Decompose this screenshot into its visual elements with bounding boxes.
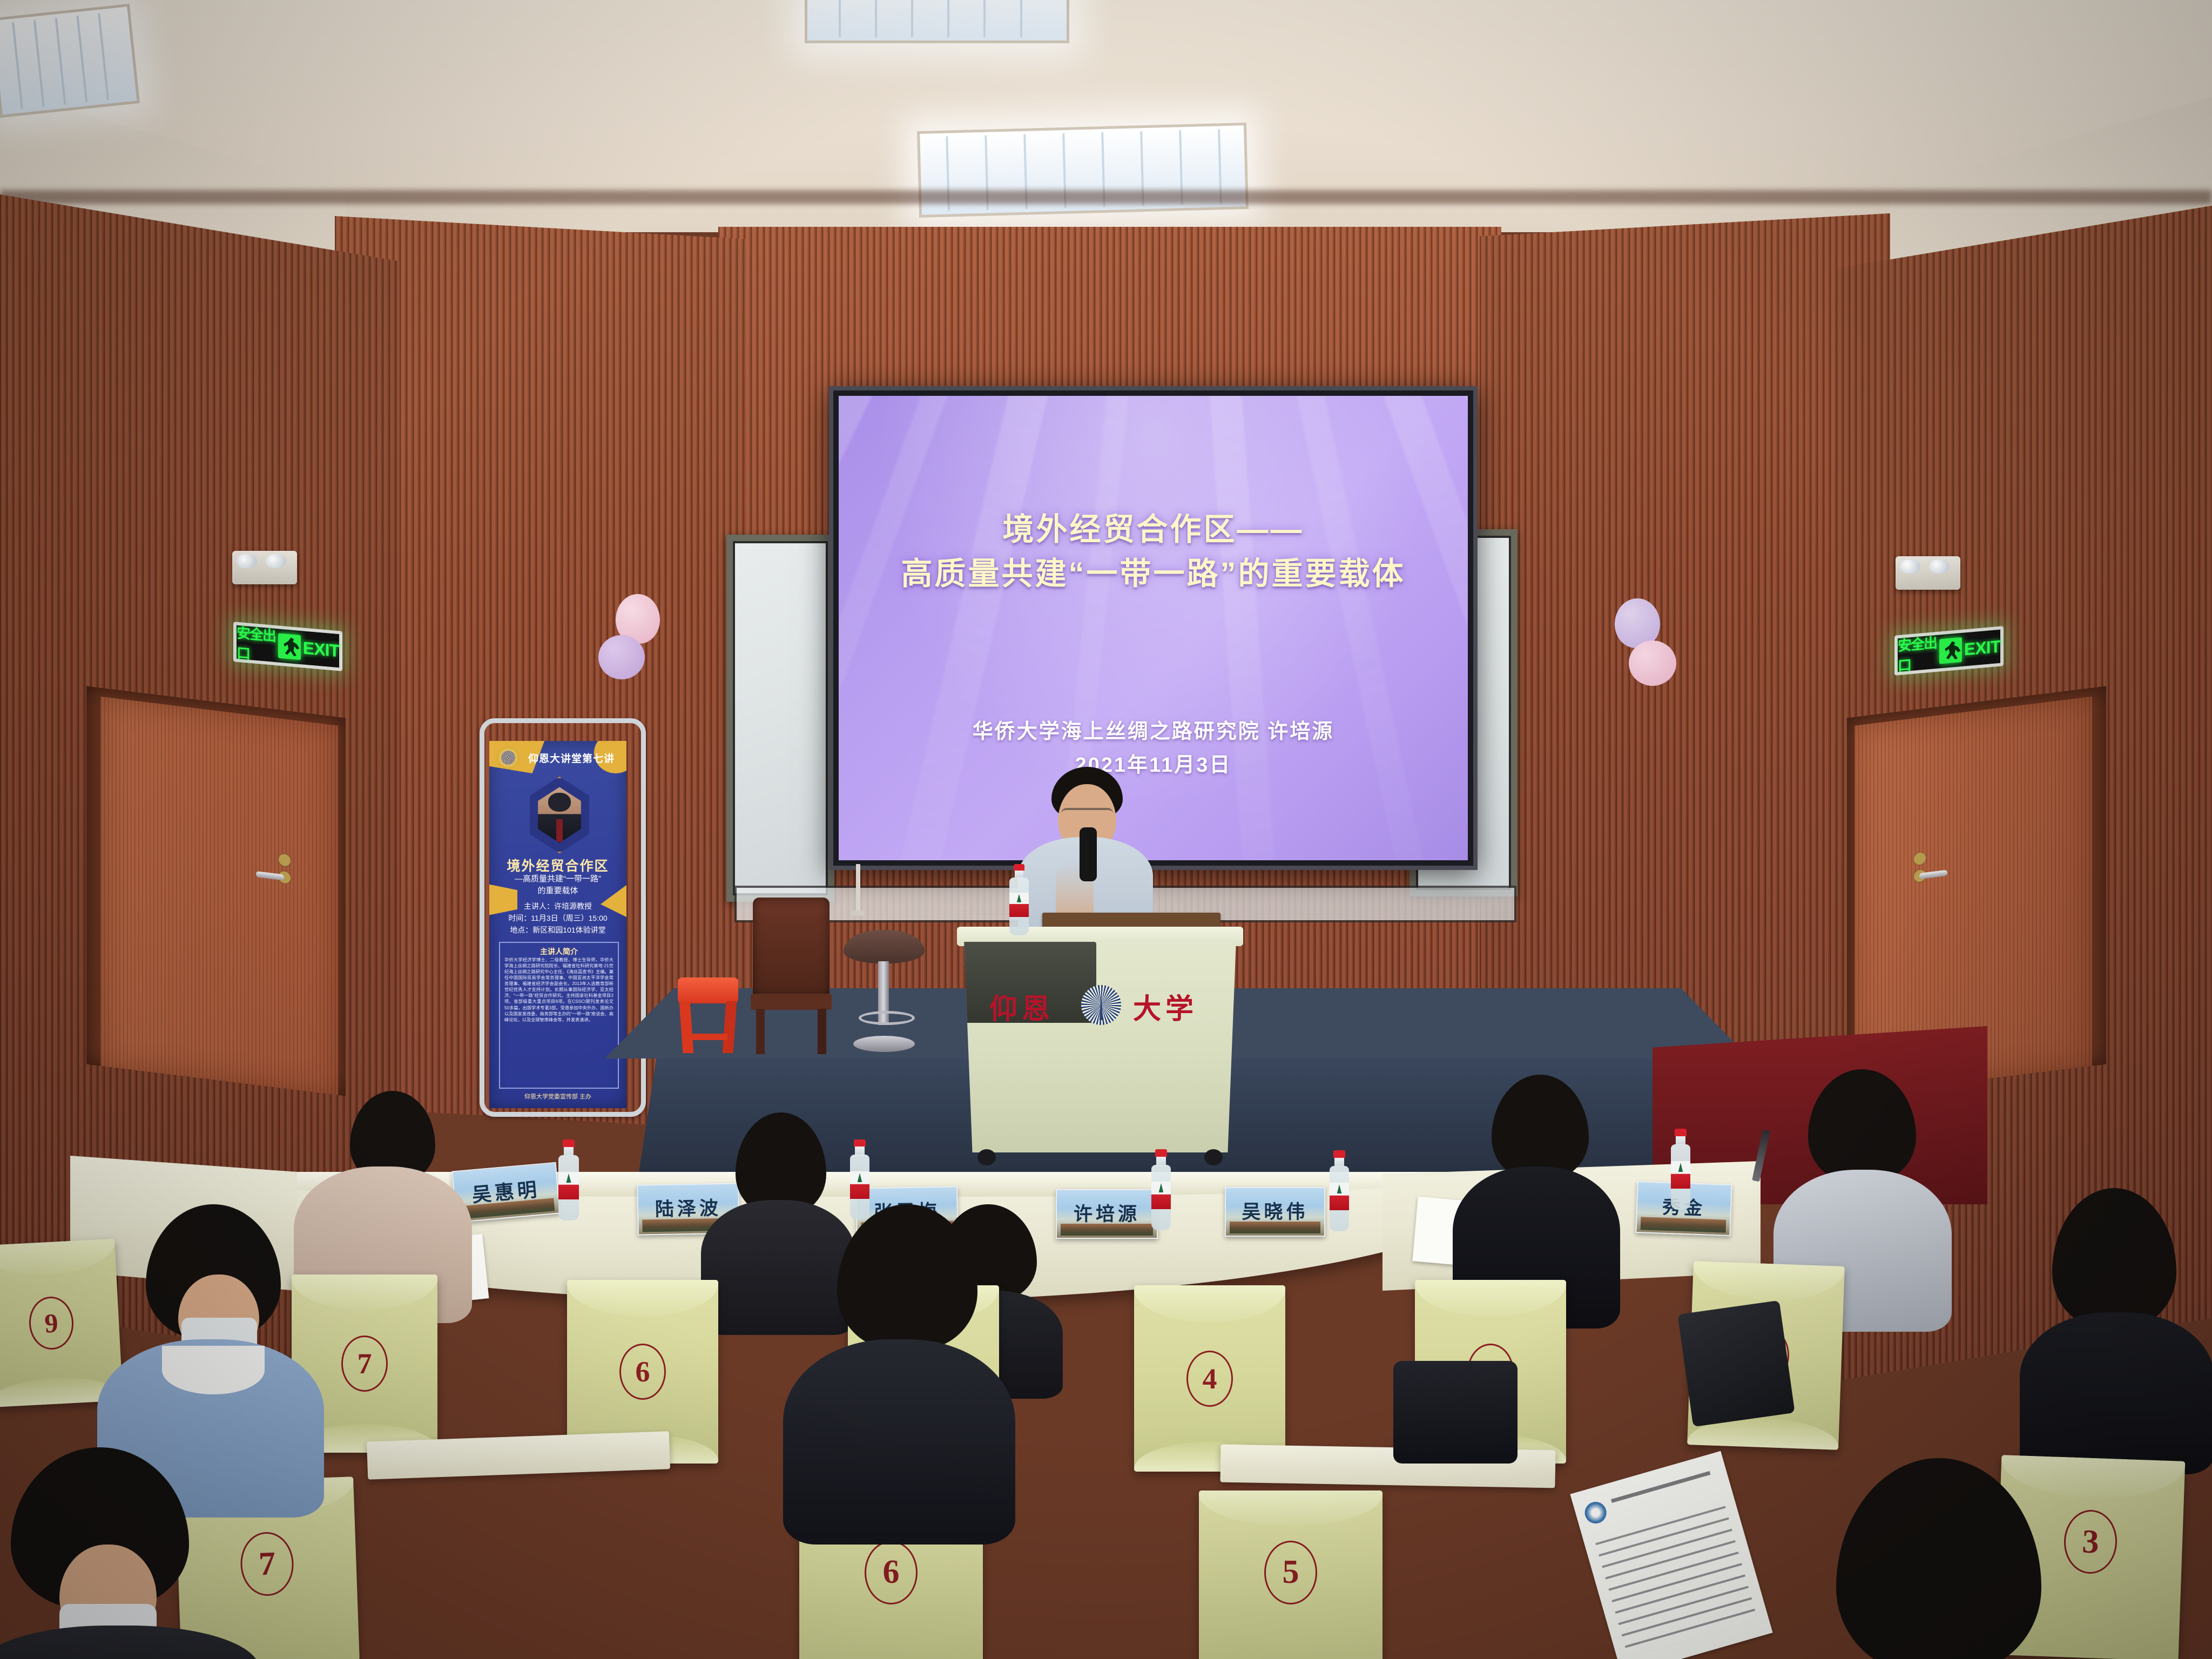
- banner-header: 仰恩大讲堂第七讲: [520, 751, 623, 765]
- door-lock-escutcheon: [279, 853, 291, 867]
- exit-sign-label-cn: 安全出口: [237, 622, 276, 665]
- seat-4-middle[interactable]: 4: [1134, 1285, 1285, 1472]
- attendee-torso: [0, 1626, 259, 1659]
- seat-5-front[interactable]: 5: [1199, 1491, 1382, 1659]
- attendee-hair: [1808, 1069, 1916, 1183]
- exit-sign-label-cn: 安全出口: [1898, 632, 1937, 675]
- attendee-foreground-center: [772, 1204, 1021, 1539]
- emergency-lamp-left: [232, 551, 297, 584]
- door-left[interactable]: [100, 697, 338, 1095]
- presenter-glasses: [1061, 808, 1113, 821]
- attendee-table-6: [2020, 1188, 2212, 1469]
- slide-title-line1: 境外经贸合作区——: [839, 504, 1468, 549]
- podium-caster-right: [1204, 1149, 1223, 1165]
- yangen-university-emblem-icon: [1081, 985, 1121, 1025]
- seat-number: 5: [1264, 1541, 1317, 1604]
- ceiling-light-panel-left: [0, 4, 140, 118]
- banner-title-line2: —高质量共建“一带一路”: [489, 873, 626, 884]
- slide-affiliation: 华侨大学海上丝绸之路研究院 许培源: [839, 714, 1468, 744]
- handbag[interactable]: [1393, 1361, 1518, 1464]
- banner-portrait-frame: [525, 777, 594, 853]
- attendee-foreground-bottom-left: [0, 1447, 259, 1659]
- door-lock-escutcheon: [1914, 852, 1926, 866]
- handout-title-line: [1611, 1471, 1711, 1503]
- podium-caster-left: [977, 1149, 996, 1165]
- microphone-icon[interactable]: [1080, 827, 1097, 881]
- door-recess-left: [86, 686, 346, 1096]
- screen-pull-knob[interactable]: [851, 911, 865, 916]
- tablet-device[interactable]: [1677, 1300, 1795, 1427]
- banner-portrait-photo: [535, 787, 585, 842]
- handout-body-lines: [1595, 1506, 1758, 1657]
- seat-number: 4: [1186, 1351, 1233, 1407]
- bar-stool[interactable]: [844, 930, 925, 1054]
- water-bottle-table-1[interactable]: [556, 1139, 581, 1220]
- banner-place: 地点：新区和园101体验讲堂: [489, 925, 626, 935]
- water-bottle-table-3[interactable]: [1149, 1149, 1173, 1230]
- exit-sign-label-en: EXIT: [303, 638, 339, 661]
- handout-document[interactable]: [1570, 1451, 1772, 1659]
- slide-title-line2: 高质量共建“一带一路”的重要载体: [839, 548, 1468, 594]
- podium: 仰恩 大学: [961, 942, 1239, 1152]
- balloon-pink-right: [1629, 640, 1676, 686]
- emergency-lamp-right: [1896, 556, 1960, 590]
- water-bottle-table-5[interactable]: [1669, 1129, 1692, 1210]
- seat-number: 6: [865, 1541, 918, 1604]
- podium-word-right: 大学: [1133, 986, 1198, 1027]
- running-man-icon: [278, 633, 301, 660]
- seat-number: 9: [28, 1296, 75, 1351]
- handout-logo-icon: [1582, 1499, 1609, 1526]
- balloon-lavender-left: [598, 635, 645, 679]
- banner-title-line3: 的重要载体: [489, 885, 626, 896]
- ceiling-shadow-line: [0, 190, 2212, 204]
- red-plastic-stool[interactable]: [678, 977, 738, 1053]
- attendee-foreground-bottom-right: [1793, 1458, 2095, 1659]
- attendee-hair: [2052, 1188, 2176, 1328]
- water-bottle-podium[interactable]: [1008, 864, 1030, 935]
- screen-pull-cord[interactable]: [856, 864, 860, 913]
- water-bottle-table-4[interactable]: [1327, 1150, 1351, 1231]
- running-man-icon: [1939, 637, 1962, 664]
- exit-sign-label-en: EXIT: [1964, 636, 2000, 659]
- banner-time: 时间：11月3日（周三）15:00: [489, 913, 626, 923]
- name-card-label: 许培源: [1057, 1199, 1157, 1226]
- attendee-hair: [837, 1204, 977, 1350]
- banner-bio-heading: 主讲人简介: [500, 946, 618, 957]
- lecture-hall-scene: 安全出口 EXIT 安全出口 EXIT 境外经贸合作区—— 高质量共建“一带一路…: [0, 0, 2212, 1659]
- name-card-label: 吴晓伟: [1226, 1197, 1324, 1224]
- banner-title-line1: 境外经贸合作区: [489, 855, 626, 875]
- banner-emblem-icon: [497, 746, 520, 769]
- attendee-torso: [783, 1339, 1015, 1545]
- name-card-5: 吴晓伟: [1225, 1187, 1325, 1237]
- banner-speaker: 主讲人：许培源教授: [489, 901, 626, 912]
- wooden-chair[interactable]: [751, 898, 832, 1054]
- ceiling-light-panel-top: [805, 0, 1069, 43]
- whiteboard-frame-left: [726, 535, 834, 902]
- attendee-hair: [1836, 1458, 2041, 1659]
- name-card-4: 许培源: [1056, 1189, 1158, 1239]
- whiteboard-left: [733, 541, 828, 895]
- seat-number: 7: [341, 1336, 388, 1392]
- seat-number: 6: [619, 1344, 666, 1400]
- banner-bio-text: 华侨大学经济学博士、二级教授、博士生导师，华侨大学海上丝绸之路研究院院长、福建省…: [504, 957, 613, 1023]
- attendee-collar: [162, 1346, 265, 1394]
- podium-word-left: 仰恩: [989, 986, 1054, 1027]
- attendee-hair: [1492, 1075, 1589, 1180]
- attendee-torso: [2020, 1312, 2212, 1474]
